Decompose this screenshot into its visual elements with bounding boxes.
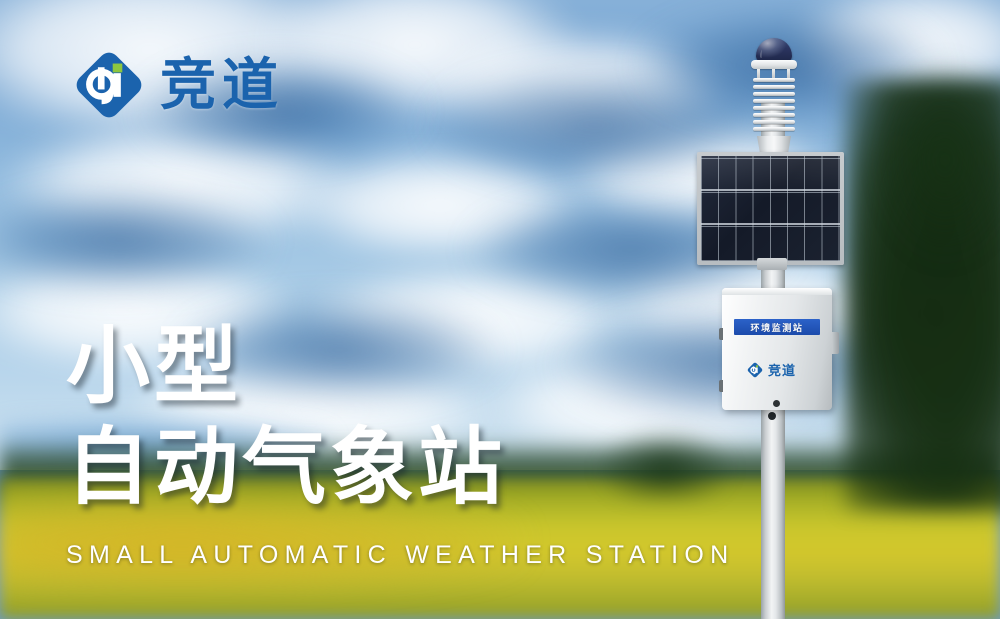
- sensor-dome-facets: [760, 44, 788, 58]
- subtitle: SMALL AUTOMATIC WEATHER STATION: [66, 541, 735, 570]
- radiation-shield-icon: [753, 78, 795, 136]
- jingdao-diamond-logo-icon: [746, 361, 764, 379]
- enclosure-brand-logo: 竞道: [746, 360, 796, 379]
- enclosure-label: 环境监测站: [734, 319, 820, 335]
- environment-monitor-enclosure: 环境监测站 竞道: [722, 288, 832, 410]
- enclosure-latch: [719, 328, 723, 340]
- brand-logo: 竞道: [72, 48, 284, 122]
- enclosure-brand-text: 竞道: [768, 360, 796, 379]
- solar-panel-bracket: [757, 258, 787, 270]
- solar-panel-icon: [697, 152, 844, 265]
- enclosure-lid: [722, 288, 832, 295]
- jingdao-diamond-logo-icon: [72, 48, 146, 122]
- sensor-post: [787, 69, 790, 78]
- solar-panel-glass: [701, 156, 840, 261]
- headline-line-1: 小型: [66, 319, 242, 413]
- sensor-post: [772, 69, 775, 78]
- solar-cell-grid: [701, 156, 840, 261]
- enclosure-side-bracket: [832, 332, 839, 354]
- sensor-dome-flange: [751, 60, 797, 69]
- pole-mounting-hole: [768, 412, 776, 420]
- brand-name: 竞道: [160, 57, 284, 113]
- product-banner: 环境监测站 竞道: [0, 0, 1000, 619]
- headline-line-2: 自动气象站: [66, 417, 506, 518]
- enclosure-latch: [719, 380, 723, 392]
- sensor-post: [757, 69, 760, 78]
- enclosure-cable-gland: [773, 400, 780, 407]
- headline: 小型 自动气象站: [66, 316, 506, 518]
